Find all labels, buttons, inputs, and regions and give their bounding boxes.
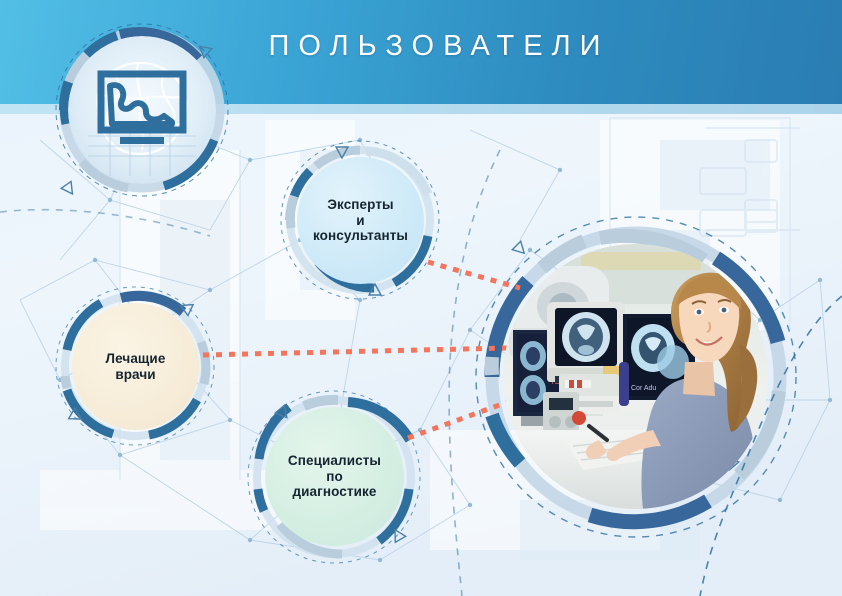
triangle-marker <box>61 181 77 197</box>
radiologist-photo: 7B <box>503 244 768 509</box>
node-doctors[interactable]: Лечащие врачи <box>72 303 199 430</box>
connector-doctors <box>203 348 508 355</box>
node-experts-label: Эксперты и консультанты <box>305 197 416 245</box>
svg-text:Cor Adu: Cor Adu <box>631 385 656 392</box>
connector-experts <box>428 262 520 288</box>
node-experts[interactable]: Эксперты и консультанты <box>297 157 424 284</box>
node-doctors-label: Лечащие врачи <box>98 351 174 383</box>
infographic-slide: ПОЛЬЗОВАТЕЛИ <box>0 0 842 596</box>
node-diagnostics-label: Специалисты по диагностике <box>280 453 389 501</box>
brain-scan-monitor-icon <box>68 36 216 184</box>
node-diagnostics[interactable]: Специалисты по диагностике <box>265 407 404 546</box>
triangle-marker <box>512 241 528 257</box>
